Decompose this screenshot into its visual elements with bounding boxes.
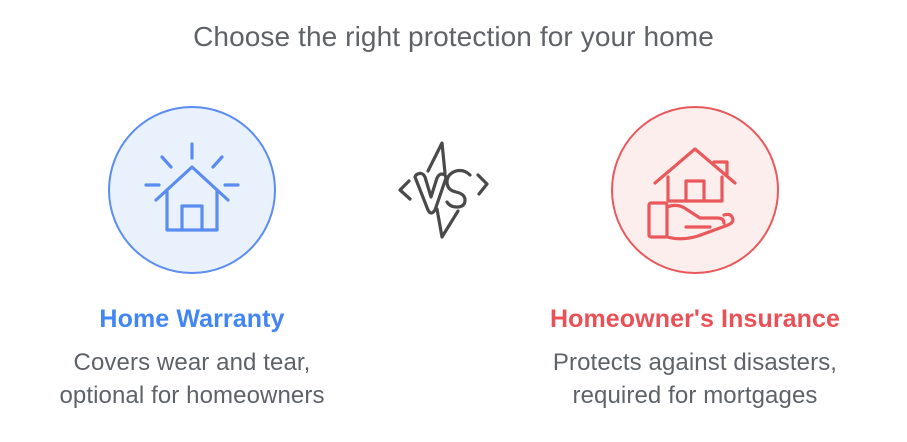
home-warranty-description-line-1: Covers wear and tear, xyxy=(0,346,387,379)
homeowners-insurance-description-line-1: Protects against disasters, xyxy=(500,346,890,379)
homeowners-insurance-icon-wrap xyxy=(500,100,890,280)
home-warranty-description: Covers wear and tear, optional for homeo… xyxy=(0,346,387,412)
vs-burst-icon xyxy=(392,137,496,243)
home-warranty-heading: Home Warranty xyxy=(0,304,387,334)
homeowners-insurance-description: Protects against disasters, required for… xyxy=(500,346,890,412)
comparison-column-homeowners-insurance: Homeowner's Insurance Protects against d… xyxy=(500,100,890,412)
homeowners-insurance-description-line-2: required for mortgages xyxy=(500,379,890,412)
home-warranty-icon-wrap xyxy=(0,100,387,280)
homeowners-insurance-heading: Homeowner's Insurance xyxy=(500,304,890,334)
home-warranty-description-line-2: optional for homeowners xyxy=(0,379,387,412)
vs-badge xyxy=(390,135,498,245)
comparison-infographic: Choose the right protection for your hom… xyxy=(0,0,907,442)
comparison-column-home-warranty: Home Warranty Covers wear and tear, opti… xyxy=(0,100,387,412)
homeowners-insurance-icon-circle xyxy=(611,106,779,274)
house-in-open-hand-icon xyxy=(642,137,748,243)
home-warranty-icon-circle xyxy=(108,106,276,274)
house-with-shine-rays-icon xyxy=(140,138,244,242)
page-title: Choose the right protection for your hom… xyxy=(0,20,907,54)
